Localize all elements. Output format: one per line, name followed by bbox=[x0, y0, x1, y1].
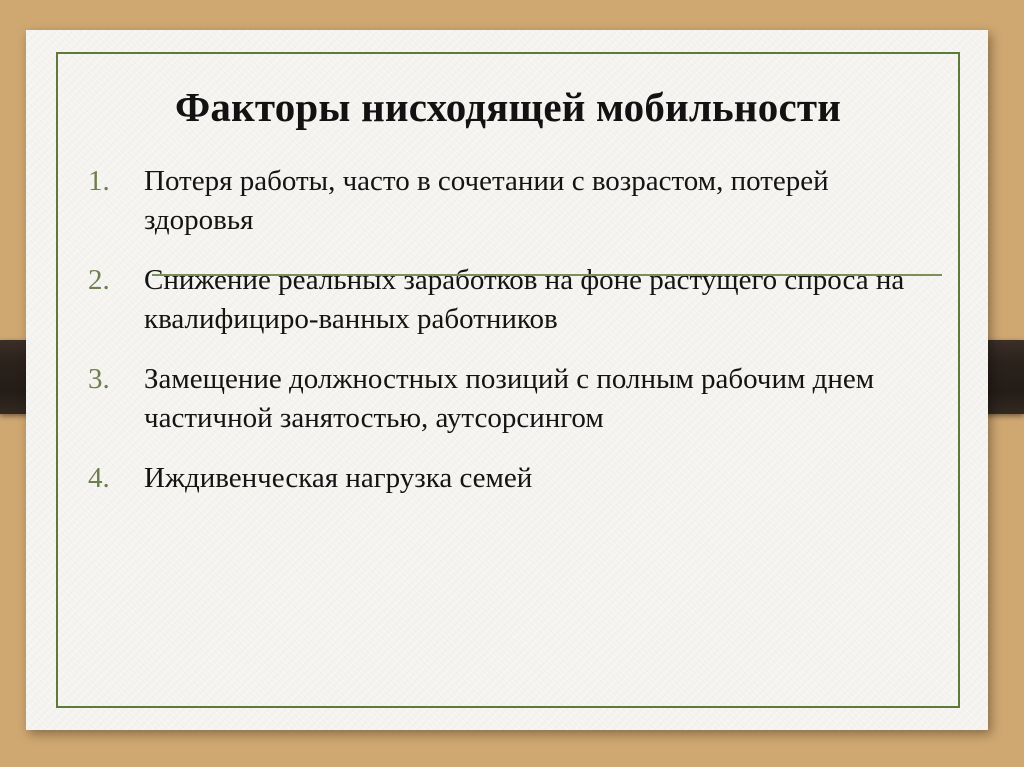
list-item-number: 2. bbox=[88, 261, 132, 300]
list-item-text: Иждивенческая нагрузка семей bbox=[144, 459, 920, 498]
list-item-text: Снижение реальных заработков на фоне рас… bbox=[144, 261, 920, 338]
paper-sheet: Факторы нисходящей мобильности 1. Потеря… bbox=[26, 30, 988, 730]
slide-content: Факторы нисходящей мобильности 1. Потеря… bbox=[56, 52, 960, 708]
list-item-number: 3. bbox=[88, 360, 132, 399]
factors-list: 1. Потеря работы, часто в сочетании с во… bbox=[56, 162, 960, 498]
list-item: 3. Замещение должностных позиций с полны… bbox=[74, 360, 920, 437]
list-item: 1. Потеря работы, часто в сочетании с во… bbox=[74, 162, 920, 239]
first-item-underline bbox=[152, 274, 942, 276]
list-item: 4. Иждивенческая нагрузка семей bbox=[74, 459, 920, 498]
slide-background: Факторы нисходящей мобильности 1. Потеря… bbox=[0, 0, 1024, 767]
list-item: 2. Снижение реальных заработков на фоне … bbox=[74, 261, 920, 338]
list-item-text: Замещение должностных позиций с полным р… bbox=[144, 360, 920, 437]
list-item-number: 1. bbox=[88, 162, 132, 201]
slide-title: Факторы нисходящей мобильности bbox=[144, 80, 872, 134]
list-item-text: Потеря работы, часто в сочетании с возра… bbox=[144, 162, 920, 239]
list-item-number: 4. bbox=[88, 459, 132, 498]
